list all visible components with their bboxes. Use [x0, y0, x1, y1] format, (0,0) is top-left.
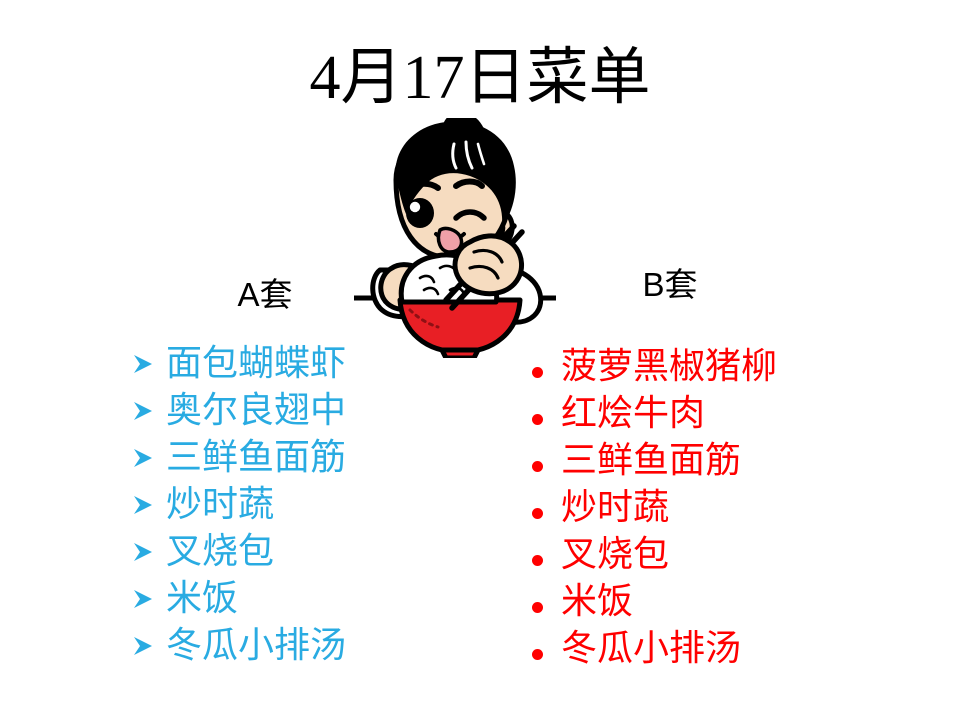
list-item: 三鲜鱼面筋 — [132, 434, 346, 481]
list-item: 米饭 — [515, 578, 777, 625]
list-item: 冬瓜小排汤 — [132, 622, 346, 669]
arrow-bullet-icon — [132, 528, 162, 562]
menu-item-label: 冬瓜小排汤 — [559, 625, 741, 672]
dot-bullet-icon — [515, 584, 559, 613]
page-title: 4月17日菜单 — [0, 46, 960, 111]
list-item: 冬瓜小排汤 — [515, 625, 777, 672]
column-heading-a: A套 — [175, 278, 355, 311]
dot-bullet-icon — [515, 396, 559, 425]
list-item: 叉烧包 — [132, 528, 346, 575]
menu-item-label: 菠萝黑椒猪柳 — [559, 343, 777, 390]
menu-slide: 4月17日菜单 — [0, 0, 960, 720]
arrow-bullet-icon — [132, 622, 162, 656]
menu-item-label: 冬瓜小排汤 — [162, 622, 346, 669]
list-item: 三鲜鱼面筋 — [515, 437, 777, 484]
list-item: 菠萝黑椒猪柳 — [515, 343, 777, 390]
dot-bullet-icon — [515, 631, 559, 660]
menu-list-a: 面包蝴蝶虾 奥尔良翅中 三鲜鱼面筋 炒时蔬 — [132, 340, 346, 669]
menu-item-label: 红烩牛肉 — [559, 390, 705, 437]
menu-item-label: 米饭 — [559, 578, 633, 625]
bowl — [400, 300, 520, 352]
menu-item-label: 奥尔良翅中 — [162, 387, 346, 434]
dot-bullet-icon — [515, 490, 559, 519]
menu-item-label: 面包蝴蝶虾 — [162, 340, 346, 387]
boy-eating-rice-bowl-illustration — [340, 118, 620, 358]
menu-item-label: 炒时蔬 — [162, 481, 274, 528]
bowl-foot — [442, 350, 478, 358]
arrow-bullet-icon — [132, 340, 162, 374]
left-eye — [406, 198, 434, 228]
list-item: 红烩牛肉 — [515, 390, 777, 437]
list-item: 米饭 — [132, 575, 346, 622]
column-heading-b: B套 — [580, 268, 760, 301]
arrow-bullet-icon — [132, 481, 162, 515]
menu-item-label: 三鲜鱼面筋 — [559, 437, 741, 484]
list-item: 面包蝴蝶虾 — [132, 340, 346, 387]
right-hand — [455, 236, 522, 294]
menu-item-label: 米饭 — [162, 575, 238, 622]
menu-item-label: 叉烧包 — [559, 531, 669, 578]
list-item: 叉烧包 — [515, 531, 777, 578]
menu-list-b: 菠萝黑椒猪柳 红烩牛肉 三鲜鱼面筋 炒时蔬 叉烧包 米饭 冬瓜小排汤 — [515, 343, 777, 672]
dot-bullet-icon — [515, 537, 559, 566]
list-item: 炒时蔬 — [132, 481, 346, 528]
menu-item-label: 炒时蔬 — [559, 484, 669, 531]
arrow-bullet-icon — [132, 575, 162, 609]
menu-item-label: 叉烧包 — [162, 528, 274, 575]
list-item: 奥尔良翅中 — [132, 387, 346, 434]
dot-bullet-icon — [515, 443, 559, 472]
arrow-bullet-icon — [132, 434, 162, 468]
dot-bullet-icon — [515, 349, 559, 378]
arrow-bullet-icon — [132, 387, 162, 421]
menu-item-label: 三鲜鱼面筋 — [162, 434, 346, 481]
list-item: 炒时蔬 — [515, 484, 777, 531]
left-eye-highlight — [410, 202, 420, 212]
